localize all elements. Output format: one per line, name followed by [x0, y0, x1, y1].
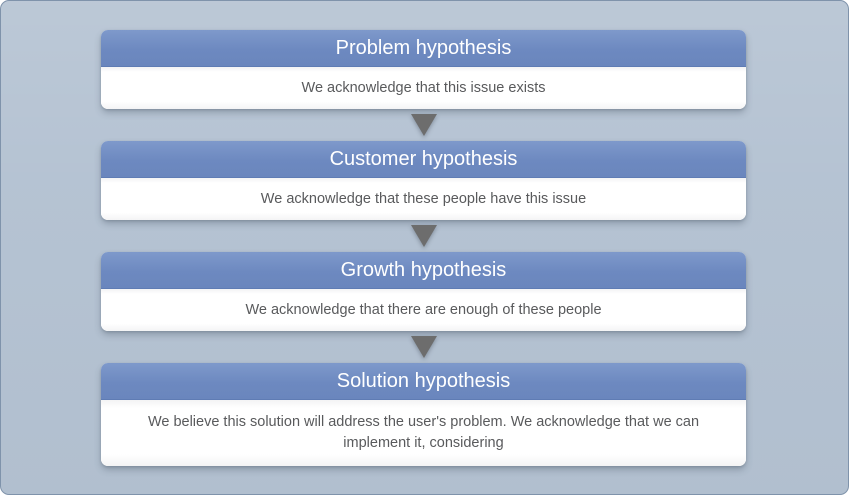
flow-connector-3	[101, 331, 746, 363]
diagram-canvas: Problem hypothesis We acknowledge that t…	[0, 0, 849, 495]
flow-node-body: We believe this solution will address th…	[101, 400, 746, 466]
flow-node-body: We acknowledge that there are enough of …	[101, 289, 746, 331]
flow-node-title: Growth hypothesis	[101, 252, 746, 289]
triangle-down-icon	[411, 336, 437, 358]
hypothesis-flow: Problem hypothesis We acknowledge that t…	[101, 30, 746, 466]
flow-node-title: Customer hypothesis	[101, 141, 746, 178]
flow-node-title: Solution hypothesis	[101, 363, 746, 400]
flow-connector-1	[101, 109, 746, 141]
flow-node-body: We acknowledge that this issue exists	[101, 67, 746, 109]
flow-node-body: We acknowledge that these people have th…	[101, 178, 746, 220]
triangle-down-icon	[411, 225, 437, 247]
flow-node-title: Problem hypothesis	[101, 30, 746, 67]
flow-node-solution-hypothesis[interactable]: Solution hypothesis We believe this solu…	[101, 363, 746, 466]
triangle-down-icon	[411, 114, 437, 136]
flow-node-growth-hypothesis[interactable]: Growth hypothesis We acknowledge that th…	[101, 252, 746, 331]
flow-node-problem-hypothesis[interactable]: Problem hypothesis We acknowledge that t…	[101, 30, 746, 109]
flow-connector-2	[101, 220, 746, 252]
flow-node-customer-hypothesis[interactable]: Customer hypothesis We acknowledge that …	[101, 141, 746, 220]
